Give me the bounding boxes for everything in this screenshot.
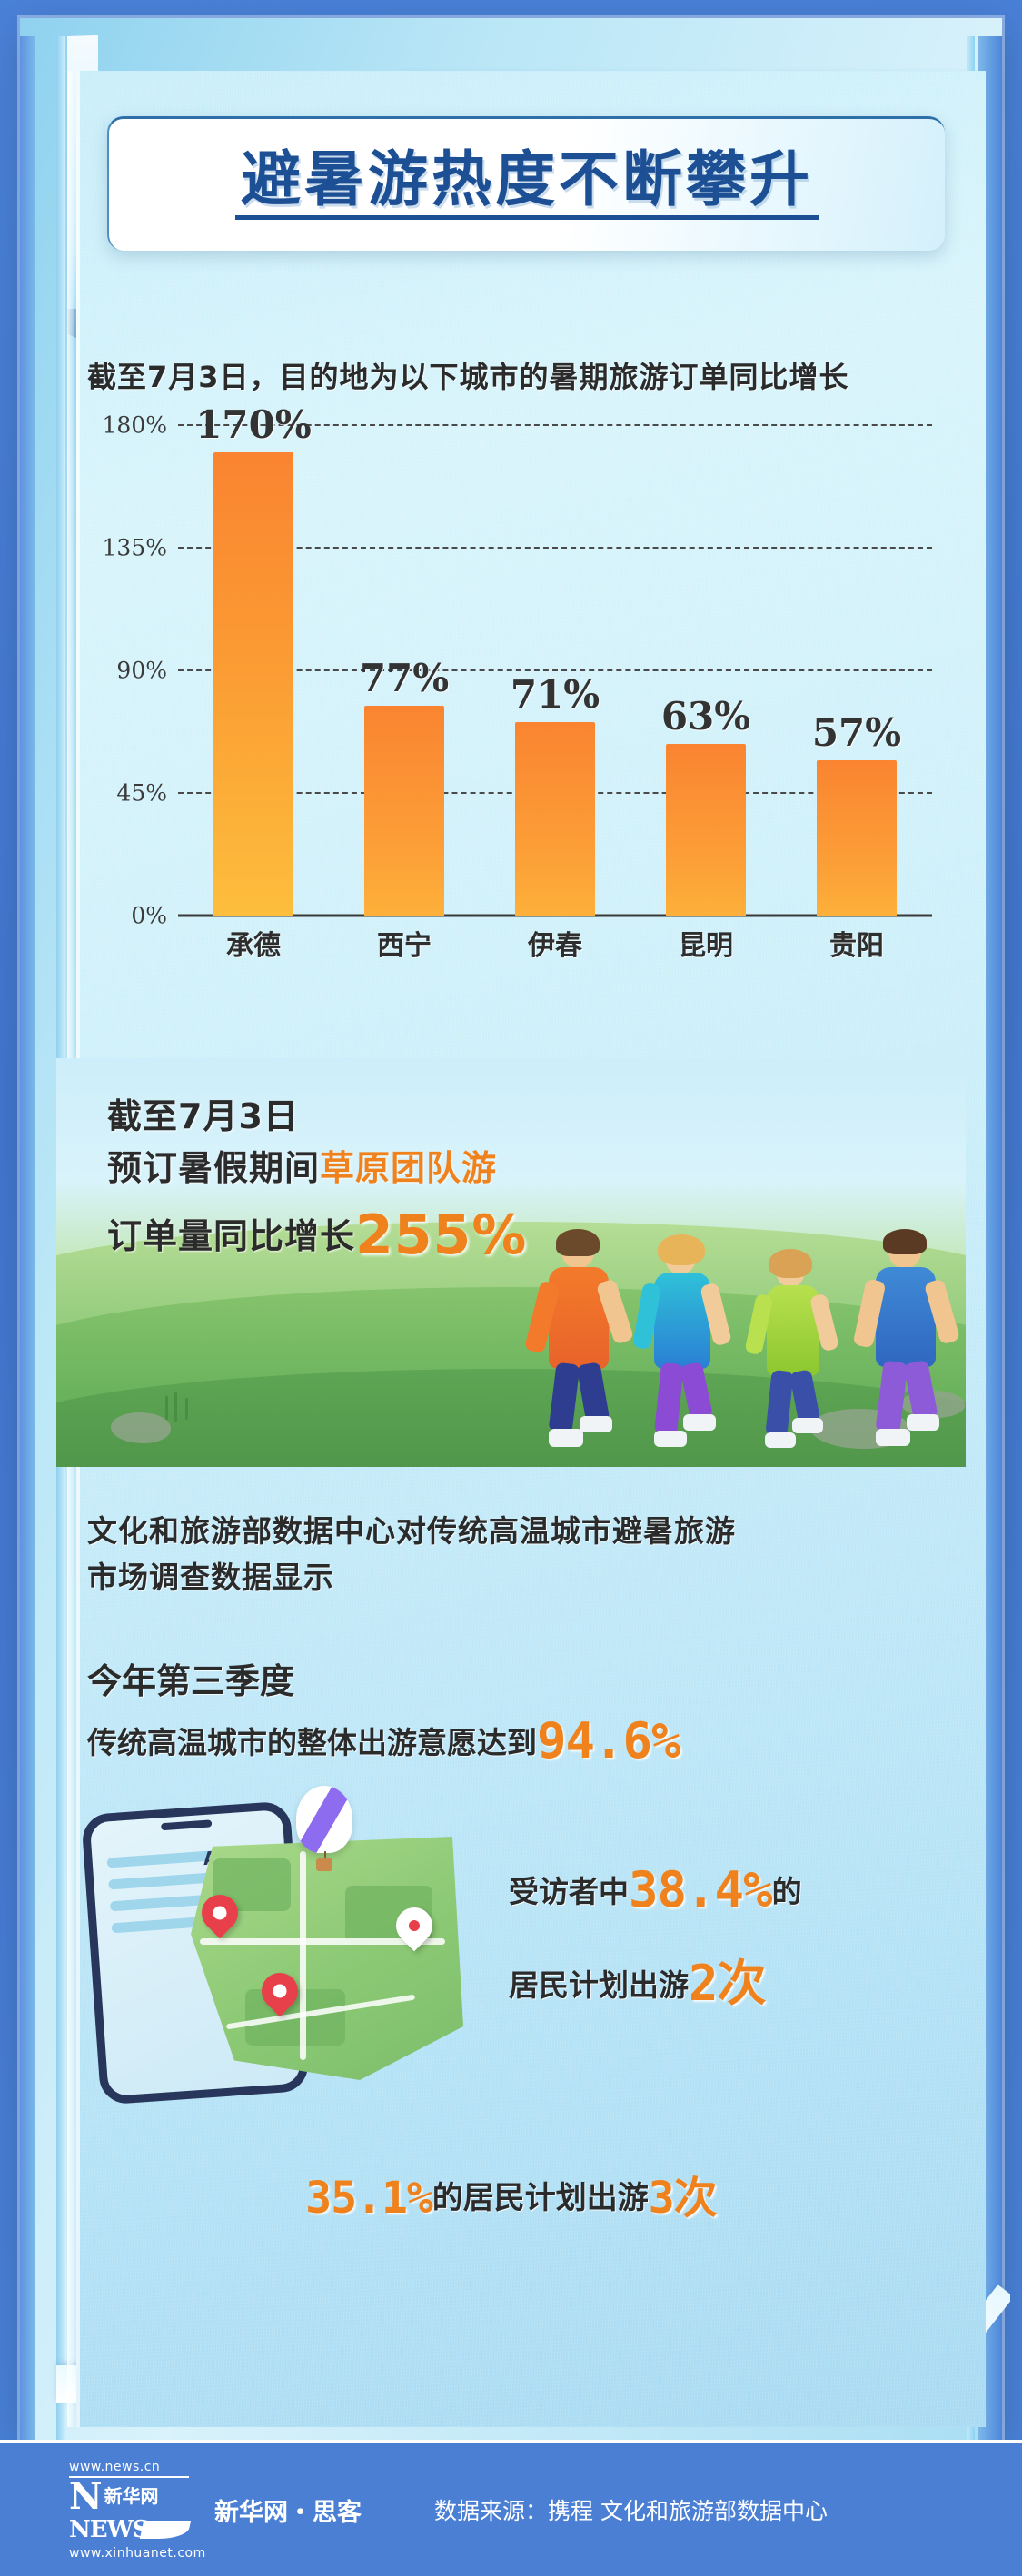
photo-line-3: 订单量同比增长255% bbox=[107, 1194, 527, 1276]
infographic-root: 避暑游热度不断攀升 截至7月3日，目的地为以下城市的暑期旅游订单同比增长 180… bbox=[0, 0, 1022, 2576]
bottom-stat-text: 的居民计划出游 bbox=[432, 2180, 649, 2216]
map-shape bbox=[191, 1837, 463, 2080]
footer-bar: www.news.cn N 新华网 NEWS www.xinhuanet.com… bbox=[0, 2440, 1022, 2576]
grass-tuft bbox=[165, 1396, 168, 1420]
balloon-basket bbox=[316, 1858, 332, 1871]
runner-leg bbox=[903, 1360, 938, 1422]
y-tick-label: 90% bbox=[116, 658, 167, 684]
bar-value-label: 57% bbox=[812, 710, 901, 755]
bar-value-label: 71% bbox=[511, 672, 600, 717]
photo-line-2-prefix: 预订暑假期间 bbox=[107, 1148, 320, 1188]
phone-map-illustration: A B bbox=[73, 1780, 545, 2116]
xinhuanet-logo[interactable]: www.news.cn N 新华网 NEWS www.xinhuanet.com bbox=[69, 2460, 189, 2561]
bar-column: 170% bbox=[208, 425, 299, 916]
survey-intro-line-1: 文化和旅游部数据中心对传统高温城市避暑旅游 bbox=[87, 1508, 932, 1554]
frame-spine-outer bbox=[20, 36, 35, 2458]
page-title: 避暑游热度不断攀升 bbox=[235, 150, 819, 220]
logo-news-text: NEWS bbox=[69, 2516, 149, 2543]
logo-url-bottom: www.xinhuanet.com bbox=[69, 2546, 189, 2561]
logo-mark: N 新华网 bbox=[69, 2481, 189, 2513]
bar[interactable] bbox=[666, 744, 746, 916]
runner-leg bbox=[654, 1362, 684, 1435]
bar[interactable] bbox=[364, 706, 444, 916]
grassland-text-block: 截至7月3日 预订暑假期间草原团队游 订单量同比增长255% bbox=[107, 1091, 527, 1276]
stat1-suffix: 的 bbox=[772, 1874, 802, 1909]
bottom-stat-times: 3次 bbox=[649, 2173, 717, 2224]
runner-hair bbox=[658, 1234, 705, 1265]
runner-figure bbox=[529, 1229, 629, 1456]
bottom-stat-number: 35.1% bbox=[305, 2173, 432, 2224]
grass-tuft bbox=[185, 1398, 188, 1420]
map-road bbox=[300, 1851, 306, 2060]
chart-bars: 170% 77% 71% 63% 57% bbox=[178, 425, 932, 916]
chart-section: 截至7月3日，目的地为以下城市的暑期旅游订单同比增长 180% 135% 90%… bbox=[87, 354, 932, 1045]
hot-air-balloon-icon bbox=[296, 1786, 352, 1853]
bar-column: 71% bbox=[510, 425, 600, 916]
runner-shoe bbox=[792, 1418, 823, 1433]
x-tick-label: 贵阳 bbox=[811, 923, 902, 963]
bar[interactable] bbox=[817, 760, 897, 916]
stat2-prefix: 居民计划出游 bbox=[509, 1967, 689, 2003]
runner-leg bbox=[548, 1362, 580, 1434]
photo-line-2: 预订暑假期间草原团队游 bbox=[107, 1143, 527, 1194]
runner-shoe bbox=[654, 1431, 687, 1447]
q3-subline: 传统高温城市的整体出游意愿达到94.6% bbox=[87, 1712, 932, 1769]
logo-swoosh-icon bbox=[139, 2521, 191, 2539]
bar-value-label: 63% bbox=[661, 694, 750, 738]
runner-leg bbox=[680, 1362, 713, 1422]
runner-shoe bbox=[683, 1414, 716, 1431]
runner-shoe bbox=[549, 1429, 583, 1447]
x-tick-label: 伊春 bbox=[510, 923, 600, 963]
stat-line-1: 受访者中38.4%的 bbox=[509, 1844, 936, 1937]
x-tick-label: 西宁 bbox=[359, 923, 450, 963]
footer-source: 数据来源：携程 文化和旅游部数据中心 bbox=[434, 2493, 828, 2526]
phone-notch bbox=[161, 1819, 212, 1830]
resident-stats-block: 受访者中38.4%的 居民计划出游2次 bbox=[509, 1844, 936, 2030]
runner-hair bbox=[883, 1229, 927, 1254]
runner-leg bbox=[789, 1369, 821, 1425]
photo-line-2-highlight: 草原团队游 bbox=[320, 1148, 497, 1188]
title-plate: 避暑游热度不断攀升 bbox=[107, 116, 945, 251]
runner-leg bbox=[875, 1361, 908, 1434]
stat1-number: 38.4% bbox=[629, 1861, 772, 1918]
q3-sub-prefix: 传统高温城市的整体出游意愿达到 bbox=[87, 1725, 537, 1760]
chart-x-axis-labels: 承德 西宁 伊春 昆明 贵阳 bbox=[178, 923, 932, 963]
footer-brand: 新华网・思客 bbox=[214, 2492, 362, 2528]
runner-leg bbox=[765, 1370, 793, 1437]
chart-y-axis: 180% 135% 90% 45% 0% bbox=[87, 425, 174, 916]
bar-value-label: 170% bbox=[195, 402, 312, 447]
y-tick-label: 180% bbox=[103, 412, 167, 439]
grass-tuft bbox=[174, 1392, 177, 1422]
runner-figure bbox=[634, 1234, 734, 1456]
bar-value-label: 77% bbox=[360, 656, 449, 700]
photo-line-1: 截至7月3日 bbox=[107, 1091, 527, 1143]
stat1-prefix: 受访者中 bbox=[509, 1874, 629, 1909]
bottom-stat-line: 35.1%的居民计划出游3次 bbox=[0, 2162, 1022, 2225]
runner-torso bbox=[876, 1267, 936, 1367]
q3-heading: 今年第三季度 bbox=[87, 1653, 932, 1703]
runner-shoe bbox=[907, 1414, 939, 1431]
runner-hair bbox=[769, 1249, 812, 1278]
bar-column: 57% bbox=[811, 425, 902, 916]
logo-letter-n: N bbox=[69, 2481, 103, 2513]
y-tick-label: 0% bbox=[131, 903, 167, 929]
bar-column: 77% bbox=[359, 425, 450, 916]
rock-shape bbox=[111, 1412, 171, 1443]
photo-line-3-number: 255% bbox=[355, 1204, 527, 1267]
survey-intro-line-2: 市场调查数据显示 bbox=[87, 1554, 932, 1600]
x-tick-label: 昆明 bbox=[660, 923, 751, 963]
bar[interactable] bbox=[515, 722, 595, 916]
runner-figure bbox=[856, 1229, 956, 1456]
q3-sub-number: 94.6% bbox=[537, 1712, 680, 1769]
stat2-number: 2次 bbox=[689, 1955, 766, 2012]
runner-figure bbox=[747, 1247, 841, 1456]
runner-shoe bbox=[765, 1432, 796, 1448]
y-tick-label: 135% bbox=[103, 535, 167, 561]
runner-shoe bbox=[580, 1416, 612, 1432]
runner-hair bbox=[556, 1229, 600, 1256]
bar[interactable] bbox=[213, 452, 293, 916]
x-tick-label: 承德 bbox=[208, 923, 299, 963]
stat-line-2: 居民计划出游2次 bbox=[509, 1937, 936, 2031]
photo-line-3-prefix: 订单量同比增长 bbox=[107, 1216, 355, 1256]
logo-news-row: NEWS bbox=[69, 2516, 189, 2543]
survey-section: 文化和旅游部数据中心对传统高温城市避暑旅游 市场调查数据显示 今年第三季度 传统… bbox=[87, 1508, 932, 1769]
chart-subtitle: 截至7月3日，目的地为以下城市的暑期旅游订单同比增长 bbox=[87, 354, 932, 396]
y-tick-label: 45% bbox=[116, 780, 167, 807]
bar-column: 63% bbox=[660, 425, 751, 916]
chart-plot-area: 180% 135% 90% 45% 0% 170% 77% bbox=[87, 425, 932, 970]
q3-block: 今年第三季度 传统高温城市的整体出游意愿达到94.6% bbox=[87, 1653, 932, 1769]
logo-chinese-name: 新华网 bbox=[104, 2487, 159, 2506]
grassland-photo-section: 截至7月3日 预订暑假期间草原团队游 订单量同比增长255% bbox=[56, 1058, 966, 1467]
runner-shoe bbox=[876, 1429, 910, 1446]
